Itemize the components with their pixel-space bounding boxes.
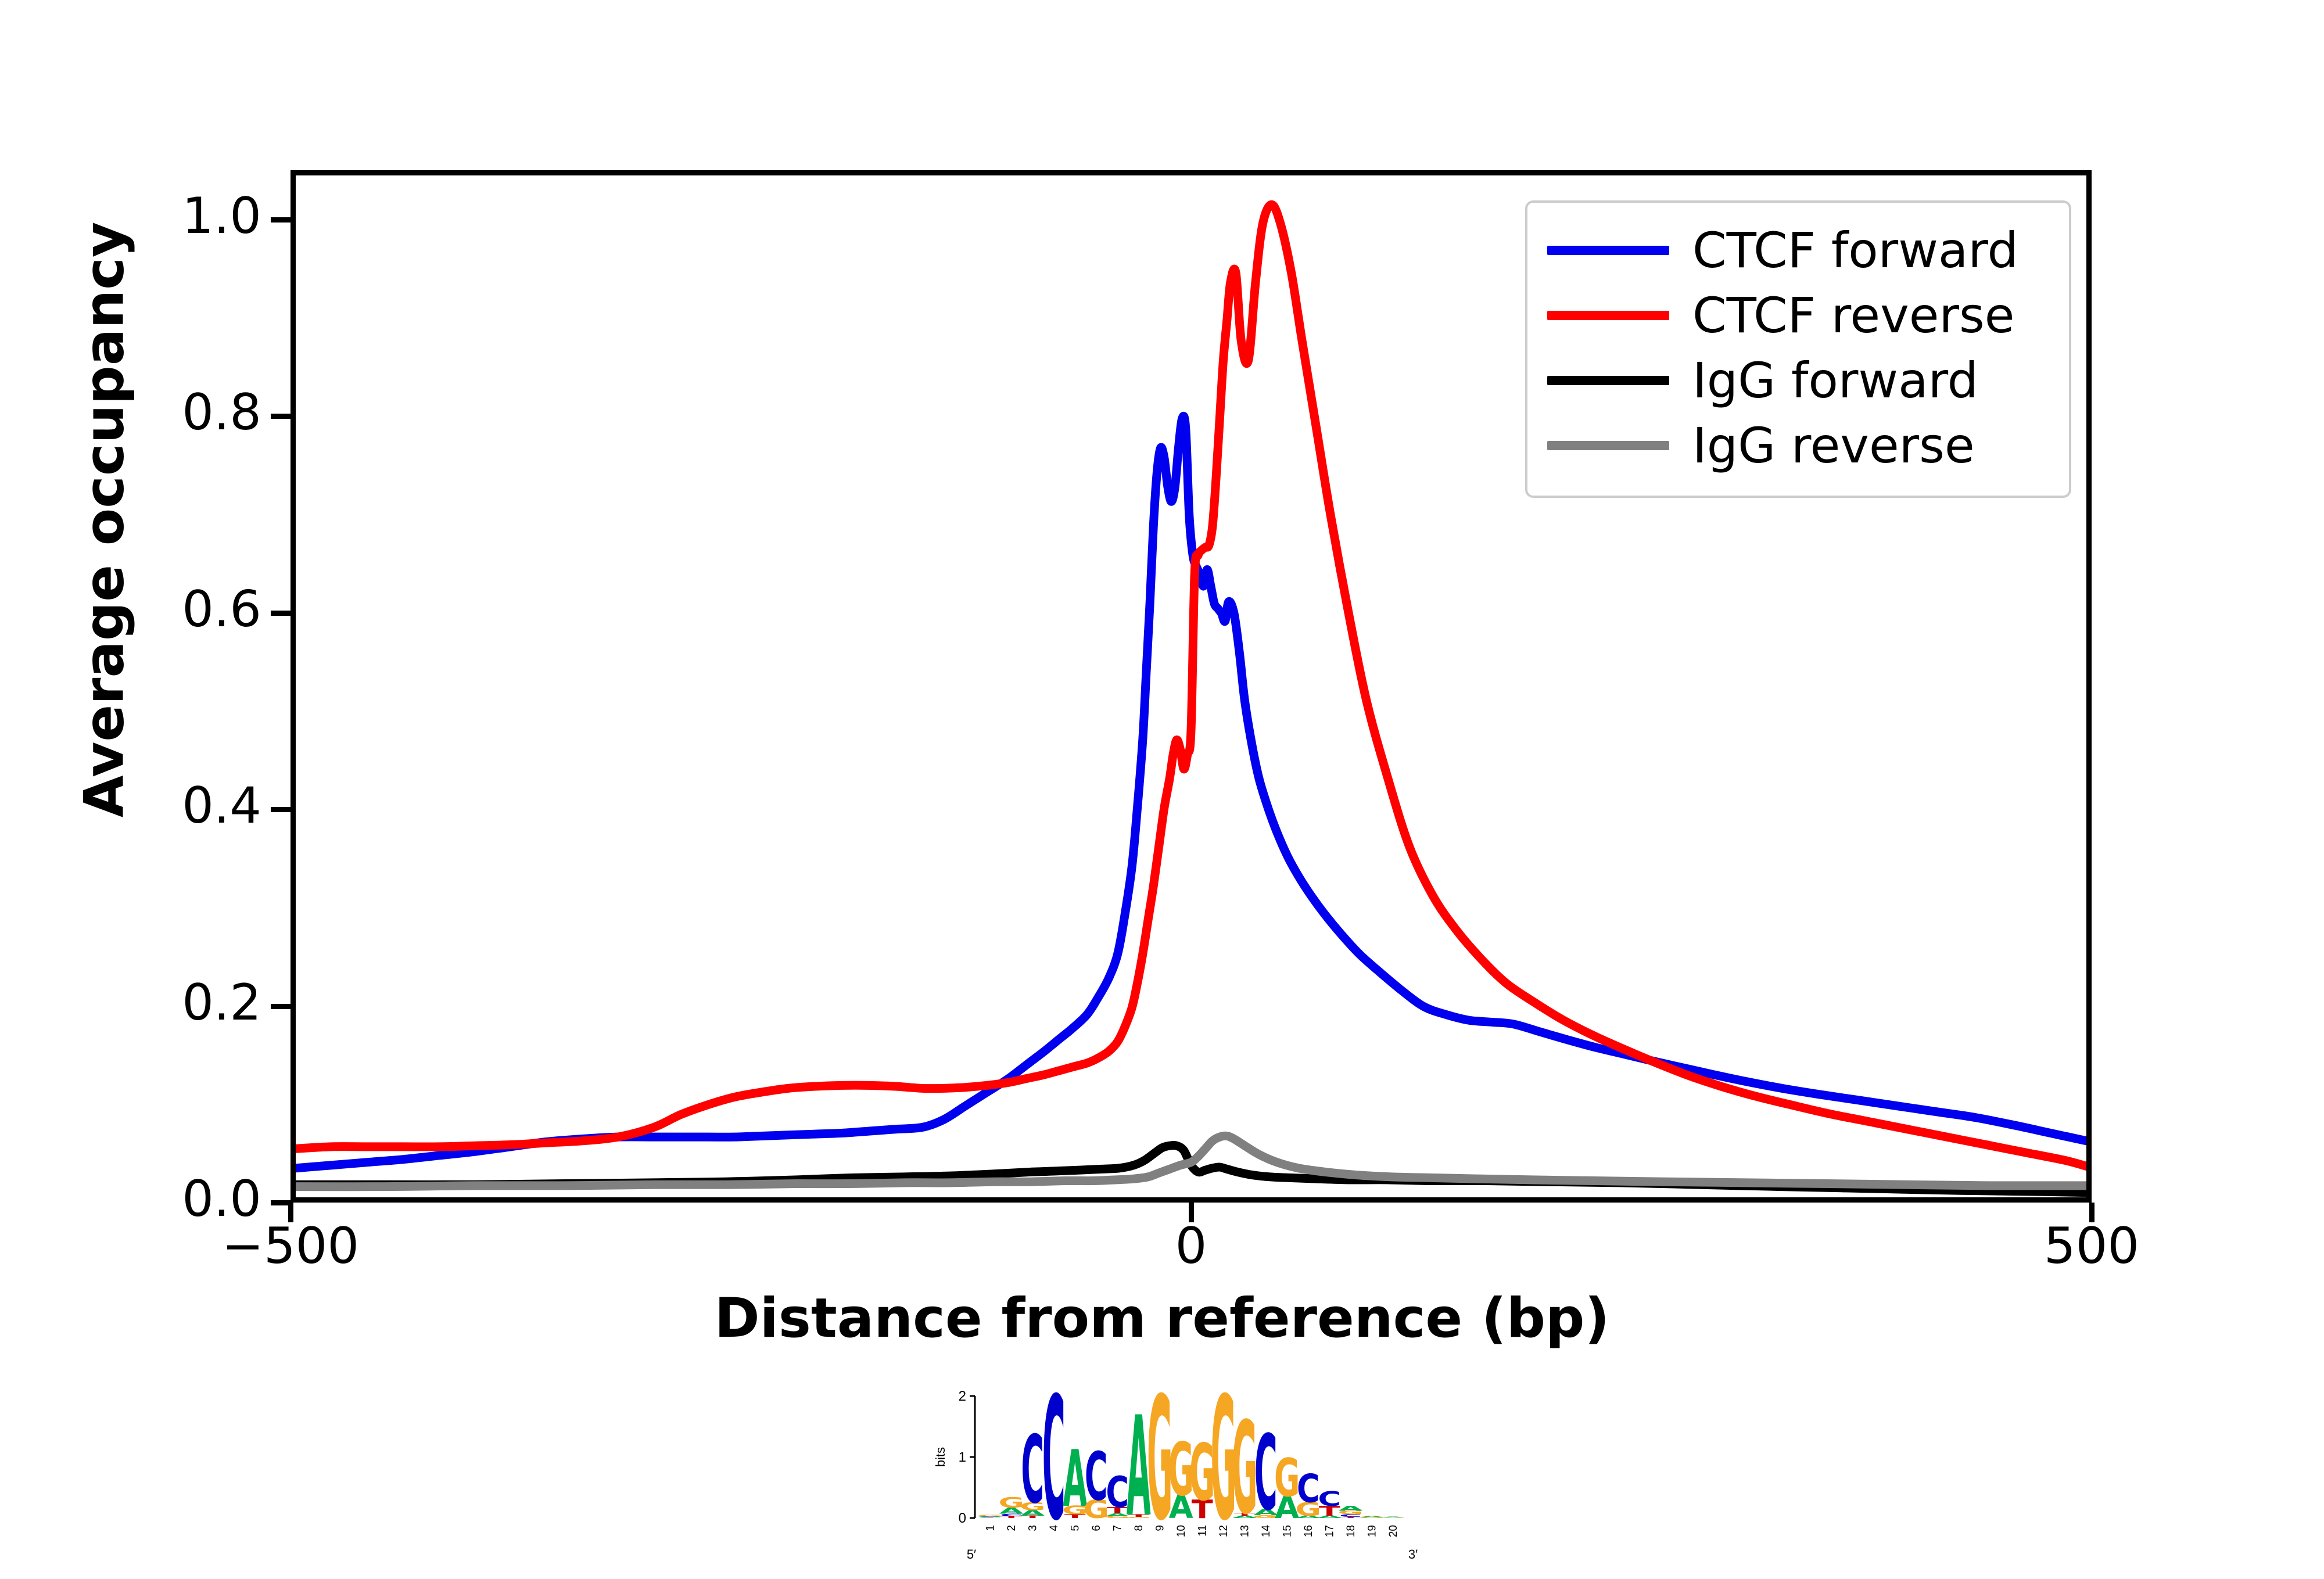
legend-label: CTCF forward <box>1692 226 2018 275</box>
logo-position-label: 5 <box>1069 1525 1081 1531</box>
y-tick-label: 0.2 <box>0 974 261 1032</box>
svg-text:C: C <box>1085 1439 1108 1516</box>
logo-five-prime-label: 5′ <box>967 1547 976 1562</box>
logo-three-prime-label: 3′ <box>1408 1547 1418 1562</box>
logo-position-label: 17 <box>1324 1525 1336 1537</box>
legend-item-igg-reverse[interactable]: IgG reverse <box>1547 413 2049 478</box>
logo-position-label: 12 <box>1218 1525 1230 1537</box>
logo-y-axis-label: bits <box>933 1447 948 1467</box>
logo-letter-G: G <box>1232 1394 1257 1542</box>
logo-letter-C: C <box>1085 1439 1108 1516</box>
logo-letter-C: C <box>1021 1416 1044 1524</box>
logo-letter-C: C <box>1106 1468 1129 1517</box>
legend-color-swatch <box>1547 441 1669 450</box>
x-tick-label: 0 <box>1175 1217 1207 1275</box>
svg-text:C: C <box>1021 1416 1044 1524</box>
logo-letter-C: C <box>1042 1386 1066 1559</box>
series-line-ctcf-forward <box>296 416 2086 1168</box>
logo-position-label: 11 <box>1196 1525 1208 1537</box>
logo-position-label: 16 <box>1303 1525 1315 1537</box>
logo-y-tick-label: 2 <box>959 1388 966 1404</box>
legend-color-swatch <box>1547 311 1669 320</box>
svg-text:C: C <box>1318 1487 1341 1511</box>
legend-box: CTCF forwardCTCF reverseIgG forwardIgG r… <box>1525 200 2071 498</box>
y-tick-mark <box>271 414 290 419</box>
logo-position-label: 7 <box>1111 1525 1124 1531</box>
y-tick-mark <box>271 1004 290 1009</box>
x-tick-label: −500 <box>222 1217 359 1275</box>
sequence-logo: 012bitsTCAG1TCAG2TAGC3C4TGA5GC6GATC7GTA8… <box>906 1386 1487 1571</box>
logo-letter-A: A <box>1381 1517 1405 1518</box>
logo-position-label: 13 <box>1239 1525 1251 1537</box>
logo-position-label: 19 <box>1366 1525 1378 1537</box>
logo-position-label: 18 <box>1345 1525 1357 1537</box>
x-tick-label: 500 <box>2044 1217 2139 1275</box>
svg-text:A: A <box>1381 1517 1405 1518</box>
svg-text:C: C <box>1297 1466 1320 1512</box>
y-tick-mark <box>271 807 290 812</box>
logo-position-label: 1 <box>984 1525 996 1531</box>
legend-label: CTCF reverse <box>1692 291 2014 340</box>
x-axis-label: Distance from reference (bp) <box>0 1287 2324 1350</box>
logo-y-tick-label: 0 <box>959 1510 966 1526</box>
svg-text:C: C <box>1106 1468 1129 1517</box>
legend-color-swatch <box>1547 246 1669 255</box>
logo-letter-C: C <box>1318 1487 1341 1511</box>
logo-position-label: 2 <box>1006 1525 1018 1531</box>
logo-letter-A: A <box>1339 1505 1364 1512</box>
logo-y-tick-label: 1 <box>959 1449 966 1465</box>
sequence-logo-panel: 012bitsTCAG1TCAG2TAGC3C4TGA5GC6GATC7GTA8… <box>906 1386 1487 1571</box>
legend-item-ctcf-forward[interactable]: CTCF forward <box>1547 218 2049 283</box>
logo-position-label: 14 <box>1260 1525 1272 1538</box>
logo-position-label: 8 <box>1133 1525 1145 1531</box>
y-tick-mark <box>271 1200 290 1205</box>
svg-text:A: A <box>1339 1505 1364 1512</box>
legend-item-ctcf-reverse[interactable]: CTCF reverse <box>1547 283 2049 348</box>
logo-position-label: 6 <box>1091 1525 1103 1531</box>
logo-position-label: 15 <box>1281 1525 1293 1537</box>
legend-color-swatch <box>1547 376 1669 385</box>
logo-position-label: 10 <box>1175 1525 1188 1537</box>
logo-position-label: 20 <box>1387 1525 1400 1537</box>
logo-position-label: 3 <box>1027 1525 1039 1531</box>
legend-item-igg-forward[interactable]: IgG forward <box>1547 348 2049 413</box>
legend-label: IgG reverse <box>1692 421 1975 470</box>
logo-position-label: 9 <box>1154 1525 1166 1531</box>
svg-text:G: G <box>1232 1394 1257 1542</box>
legend-label: IgG forward <box>1692 356 1978 405</box>
figure-root: 0.00.20.40.60.81.0 Average occupancy −50… <box>0 0 2324 1579</box>
svg-text:C: C <box>1042 1386 1066 1559</box>
logo-position-label: 4 <box>1048 1525 1060 1531</box>
logo-letter-C: C <box>1297 1466 1320 1512</box>
y-tick-mark <box>271 217 290 223</box>
y-tick-mark <box>271 611 290 616</box>
y-axis-label: Average occupancy <box>73 113 137 927</box>
